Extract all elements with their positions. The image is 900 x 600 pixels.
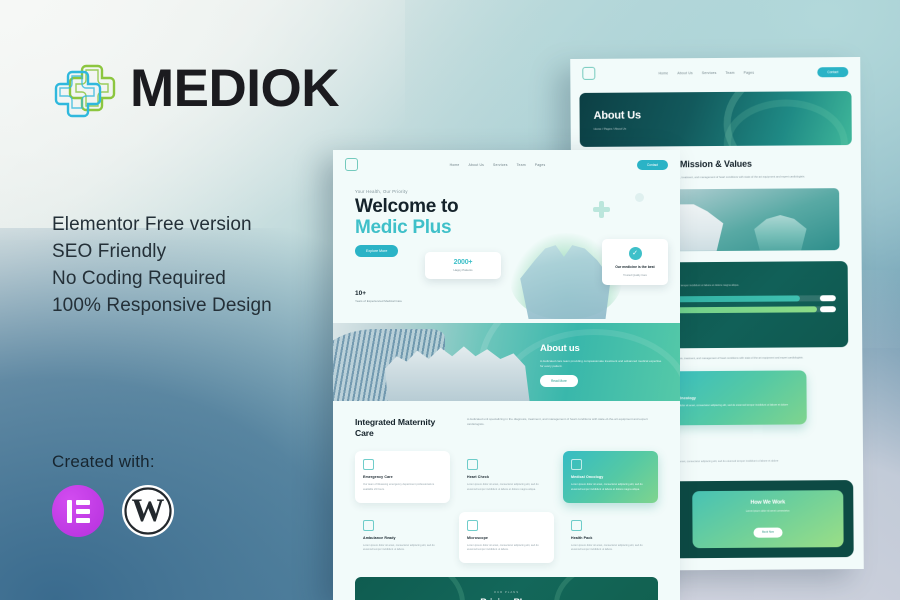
hero-stat-label: Years of Experienced Medical Care [355,299,402,304]
heart-icon [467,459,478,470]
feature-item: No Coding Required [52,266,372,293]
mockup-home-page[interactable]: Home About Us Services Team Pages Contac… [333,150,680,600]
promo-book-now-button[interactable]: Book Now [753,527,783,537]
service-card-highlight[interactable]: Medical Oncology Lorem ipsum dolor sit a… [563,451,658,502]
progress-value: 85% [826,296,831,299]
hero-title-line2: Medic Plus [355,217,451,238]
service-card[interactable]: Emergency Care Our team of lifesaving em… [355,451,450,502]
front-nav-cta-button[interactable]: Contact [637,160,668,170]
health-pack-icon [571,520,582,531]
hero-stat: 10+ Years of Experienced Medical Care [355,290,402,304]
promo-body: Lorem ipsum dolor sit amet consectetur. [700,509,835,514]
cross-decor-icon [593,201,610,218]
feature-item: Elementor Free version [52,212,372,239]
card-body: Lorem ipsum dolor sit amet, consectetur … [571,483,650,492]
wordpress-icon: W [122,485,174,537]
nav-item[interactable]: About Us [677,71,693,75]
wave-decor [355,577,465,600]
nav-item[interactable]: Pages [535,163,546,167]
staff-figure [746,212,815,251]
promo-title: How We Work [700,499,835,506]
maternity-body: A dedicated unit specializing in the dia… [467,417,658,439]
progress-value: 92% [826,307,831,310]
service-card[interactable]: Heart Check Lorem ipsum dolor sit amet, … [459,451,554,502]
brand-header: MEDIOK [52,56,352,120]
tech-badges: W [52,485,174,537]
double-cross-logo-icon [52,56,116,120]
feature-item: SEO Friendly [52,239,372,266]
hero-section: Your Health, Our Priority Welcome to Med… [333,179,680,319]
feature-item: 100% Responsive Design [52,293,372,320]
hero-patients-card: 2000+ Happy Patients [425,252,501,279]
pricing-eyebrow: OUR PLANS [494,590,519,594]
front-nav-menu[interactable]: Home About Us Services Team Pages [450,163,546,167]
elementor-icon [52,485,104,537]
maternity-section: Integrated Maternity Care A dedicated un… [333,401,680,439]
hero-explore-button[interactable]: Explore More [355,245,398,257]
nav-item[interactable]: Services [702,70,717,74]
about-title: About us [540,343,662,354]
card-title: Ambulance Ready [363,536,442,540]
hero-quality-card: ✓ Our medicine is the best Trusted Quali… [602,239,668,285]
card-title: Health Pack [571,536,650,540]
card-title: Heart Check [467,475,546,479]
back-hero-banner: About Us Home / Pages / About Us [579,91,851,147]
card-title: Medical Oncology [571,475,650,479]
poster-canvas: MEDIOK Elementor Free version SEO Friend… [0,0,900,600]
card-body: Lorem ipsum dolor sit amet, consectetur … [467,483,546,492]
thermometer-icon [363,459,374,470]
created-with-label: Created with: [52,452,174,472]
service-card[interactable]: Ambulance Ready Lorem ipsum dolor sit am… [355,512,450,563]
ambulance-icon [363,520,374,531]
about-band: About us A dedicated care team providing… [333,323,680,401]
nav-item[interactable]: Home [450,163,460,167]
service-card-grid: Emergency Care Our team of lifesaving em… [333,439,680,563]
maternity-title: Integrated Maternity Care [355,417,451,439]
card-body: Lorem ipsum dolor sit amet, consectetur … [664,404,797,414]
back-navbar[interactable]: Home About Us Services Team Pages Contac… [570,57,860,88]
dot-decor [635,193,644,202]
check-badge-icon: ✓ [629,247,642,260]
wave-decor [554,577,658,600]
nav-item[interactable]: Services [493,163,508,167]
feature-list: Elementor Free version SEO Friendly No C… [52,212,372,320]
microscope-icon [467,520,478,531]
about-body: A dedicated care team providing compassi… [540,359,662,369]
about-text-block: About us A dedicated care team providing… [540,343,662,387]
card-body: Our team of lifesaving emergency departm… [363,483,442,492]
patients-count: 2000+ [433,259,493,266]
service-card[interactable]: Microscope Lorem ipsum dolor sit amet, c… [459,512,554,563]
card-title: Emergency Care [363,475,442,479]
hero-stat-value: 10+ [355,290,402,297]
hero-eyebrow: Your Health, Our Priority [355,189,680,194]
card-title: Microscope [467,536,546,540]
service-card[interactable]: Health Pack Lorem ipsum dolor sit amet, … [563,512,658,563]
back-nav-menu[interactable]: Home About Us Services Team Pages [658,70,754,75]
page-title: MEDIOK [130,62,339,115]
nav-item[interactable]: About Us [468,163,484,167]
hero-title-line1: Welcome to [355,196,458,217]
card-title: Medical Oncology [664,396,797,401]
medic-logo-icon [345,158,358,171]
logo-row: MEDIOK [52,56,352,120]
about-read-more-button[interactable]: Read More [540,375,578,387]
card-body: Lorem ipsum dolor sit amet, consectetur … [467,544,546,553]
nav-item[interactable]: Team [725,70,734,74]
nav-item[interactable]: Home [658,71,668,75]
quality-sub: Trusted Quality Care [609,274,661,277]
card-body: Lorem ipsum dolor sit amet, consectetur … [363,544,442,553]
nav-item[interactable]: Team [517,163,526,167]
nav-item[interactable]: Pages [744,70,755,74]
wordpress-glyph: W [122,485,174,537]
stethoscope-icon [571,459,582,470]
back-nav-cta-button[interactable]: Contact [817,67,848,77]
medic-logo-icon [582,67,595,80]
patients-label: Happy Patients [433,268,493,272]
how-we-work-promo[interactable]: How We Work Lorem ipsum dolor sit amet c… [692,490,843,548]
created-with-block: Created with: W [52,452,174,537]
quality-title: Our medicine is the best [609,265,661,270]
pricing-plan-banner: OUR PLANS Pricing Plan [355,577,658,600]
hero-title: Welcome to Medic Plus [355,197,680,238]
front-navbar[interactable]: Home About Us Services Team Pages Contac… [333,150,680,179]
card-body: Lorem ipsum dolor sit amet, consectetur … [571,544,650,553]
